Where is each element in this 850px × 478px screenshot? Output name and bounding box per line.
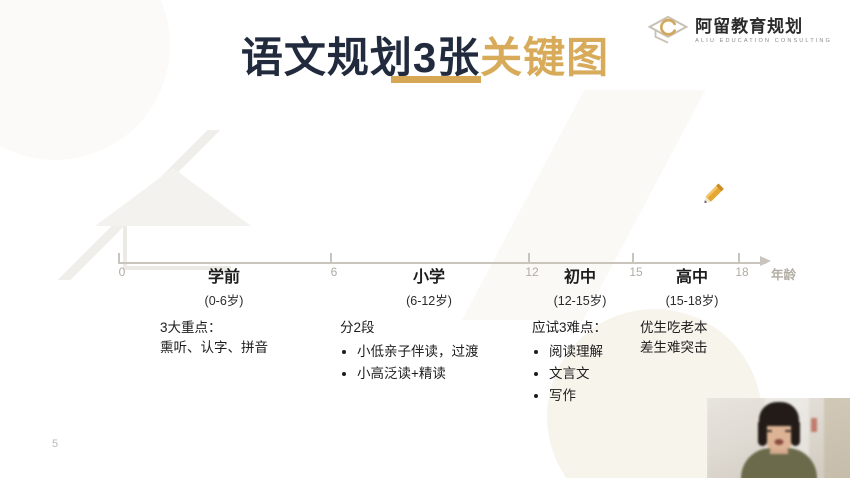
axis-tick-18 [738, 253, 740, 263]
presenter-video-overlay[interactable] [707, 398, 850, 478]
stage-column-high-school: 高中 (15-18岁) 优生吃老本 差生难突击 [632, 268, 752, 359]
axis-tick-6 [330, 253, 332, 263]
stage-column-preschool: 学前 (0-6岁) 3大重点： 熏听、认字、拼音 [118, 268, 330, 359]
stage-bullet-list: 小低亲子伴读，过渡 小高泛读+精读 [340, 341, 528, 385]
list-item: 文言文 [532, 363, 632, 385]
decor-chevron-watermark [40, 130, 230, 280]
list-item: 写作 [532, 385, 632, 407]
stage-lead-text: 应试3难点： [532, 318, 632, 338]
stage-detail-line: 熏听、认字、拼音 [160, 338, 330, 359]
stage-lead-text: 优生吃老本 [640, 318, 752, 338]
page-title: 语文规划3张关键图 [241, 24, 609, 85]
title-main-text: 语文规划3张 [241, 34, 480, 81]
stage-bullet-list: 阅读理解 文言文 写作 [532, 341, 632, 407]
stage-detail-line: 差生难突击 [640, 338, 752, 359]
stage-age-range: (15-18岁) [632, 294, 752, 310]
pencil-icon [697, 176, 731, 210]
timeline-axis [118, 262, 766, 264]
stage-age-range: (6-12岁) [330, 294, 528, 310]
stage-title: 高中 [632, 268, 752, 288]
stage-lead-text: 3大重点： [160, 318, 330, 338]
stage-age-range: (0-6岁) [118, 294, 330, 310]
axis-tick-15 [632, 253, 634, 263]
slide-canvas: 阿留教育规划 ALIU EDUCATION CONSULTING 语文规划3张关… [0, 0, 850, 478]
list-item: 小低亲子伴读，过渡 [340, 341, 528, 363]
stage-title: 初中 [528, 268, 632, 288]
axis-name-label: 年龄 [771, 264, 796, 283]
slide-title-container: 语文规划3张关键图 [0, 24, 850, 85]
stage-age-range: (12-15岁) [528, 294, 632, 310]
title-underline-highlight [391, 76, 481, 83]
axis-tick-12 [528, 253, 530, 263]
list-item: 阅读理解 [532, 341, 632, 363]
axis-arrow-icon [760, 256, 771, 266]
title-accent-text: 关键图 [480, 34, 609, 81]
stage-column-middle-school: 初中 (12-15岁) 应试3难点： 阅读理解 文言文 写作 [528, 268, 632, 406]
stage-title: 小学 [330, 268, 528, 288]
video-blur-overlay [707, 398, 850, 478]
stage-title: 学前 [118, 268, 330, 288]
list-item: 小高泛读+精读 [340, 363, 528, 385]
stage-lead-text: 分2段 [340, 318, 528, 338]
page-number: 5 [52, 438, 58, 450]
axis-tick-0 [118, 253, 120, 263]
stage-column-primary: 小学 (6-12岁) 分2段 小低亲子伴读，过渡 小高泛读+精读 [330, 268, 528, 385]
